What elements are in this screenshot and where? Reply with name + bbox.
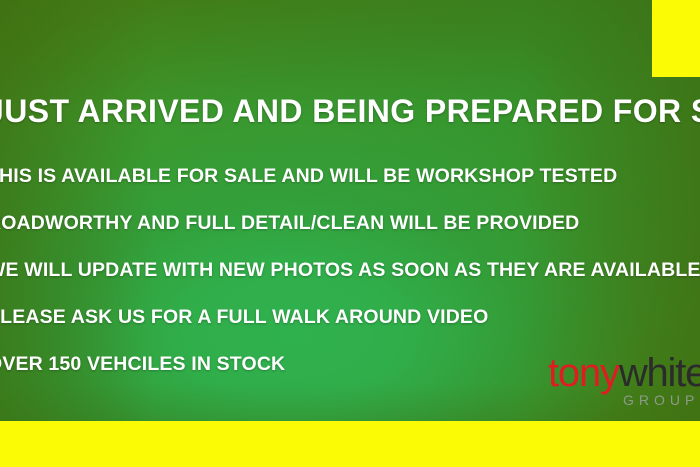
yellow-band-bottom bbox=[0, 421, 700, 467]
brand-logo-subtitle: GROUP bbox=[623, 392, 700, 408]
brand-logo-second-word: white bbox=[619, 352, 700, 395]
list-item: THIS IS AVAILABLE FOR SALE AND WILL BE W… bbox=[0, 163, 700, 210]
brand-logo: tonywhite GROUP bbox=[548, 352, 700, 414]
promo-banner: JUST ARRIVED AND BEING PREPARED FOR SALE… bbox=[0, 0, 700, 467]
page-title: JUST ARRIVED AND BEING PREPARED FOR SALE bbox=[0, 93, 700, 130]
list-item: ROADWORTHY AND FULL DETAIL/CLEAN WILL BE… bbox=[0, 210, 700, 257]
list-item: WE WILL UPDATE WITH NEW PHOTOS AS SOON A… bbox=[0, 257, 700, 304]
brand-logo-first-word: tony bbox=[548, 352, 619, 395]
brand-logo-wordmark: tonywhite bbox=[548, 352, 700, 394]
yellow-accent-block-top-right bbox=[652, 0, 700, 77]
list-item: PLEASE ASK US FOR A FULL WALK AROUND VID… bbox=[0, 304, 700, 351]
